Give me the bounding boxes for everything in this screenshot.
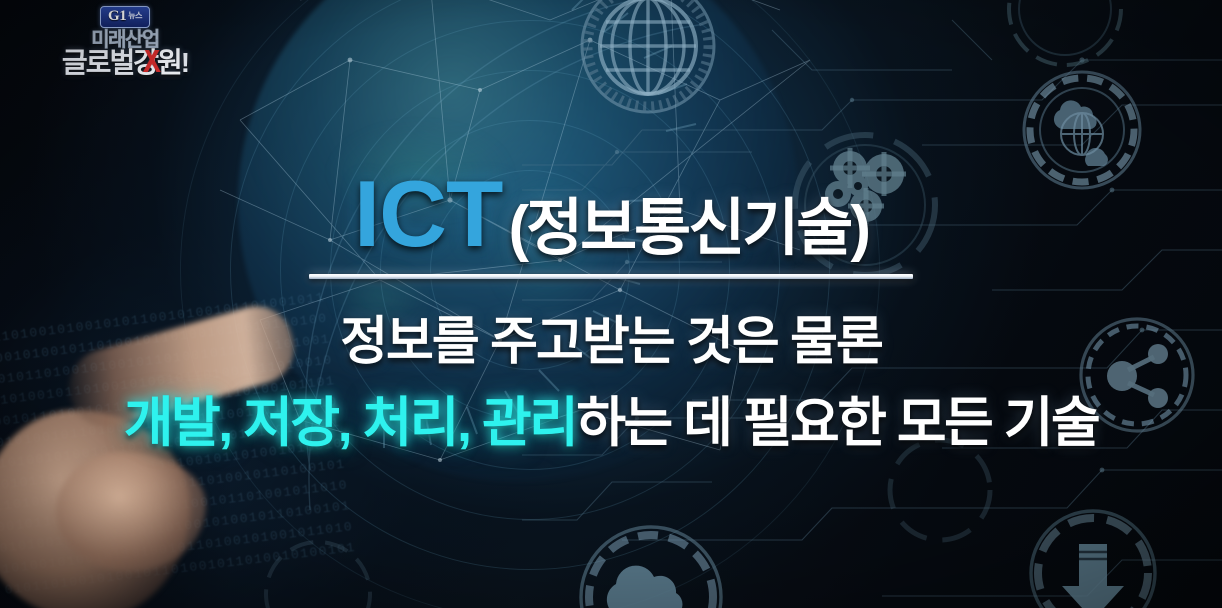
cloud-computing-icon [566, 512, 736, 608]
globe-grid-icon [568, 0, 728, 126]
logo-line-2: 글로벌강원! [40, 49, 210, 77]
broadcast-graphic-frame: 10110100101001010110010100101101001011 0… [0, 0, 1222, 608]
headline-block: ICT (정보통신기술) 정보를 주고받는 것은 물론 개발, 저장, 처리, … [0, 168, 1222, 457]
title-row: ICT (정보통신기술) [0, 168, 1222, 260]
logo-line-2-prefix: 글로벌 [62, 47, 133, 78]
logo-line-2-accent: 강원 [133, 47, 181, 78]
channel-badge: G1 뉴스 [100, 6, 150, 28]
subtitle-line-2-highlight: 개발, 저장, 처리, 관리 [124, 393, 576, 453]
channel-badge-name: G1 [108, 9, 126, 24]
subtitle-line-2: 개발, 저장, 처리, 관리하는 데 필요한 모든 기술 [0, 378, 1222, 457]
channel-logo: G1 뉴스 미래산업 글로벌강원! [40, 6, 210, 98]
headline-divider [309, 274, 913, 279]
subtitle-line-1: 정보를 주고받는 것은 물론 [0, 299, 1222, 374]
subtitle-line-2-rest: 하는 데 필요한 모든 기술 [576, 393, 1098, 453]
title-korean: (정보통신기술) [508, 198, 868, 260]
ring-decoration-icon [1000, 0, 1130, 74]
title-english: ICT [354, 168, 502, 260]
channel-badge-suffix: 뉴스 [128, 12, 142, 22]
logo-line-2-suffix: ! [181, 47, 188, 78]
download-arrow-icon [1018, 498, 1168, 608]
ring-decoration-bottom-icon [258, 534, 378, 608]
